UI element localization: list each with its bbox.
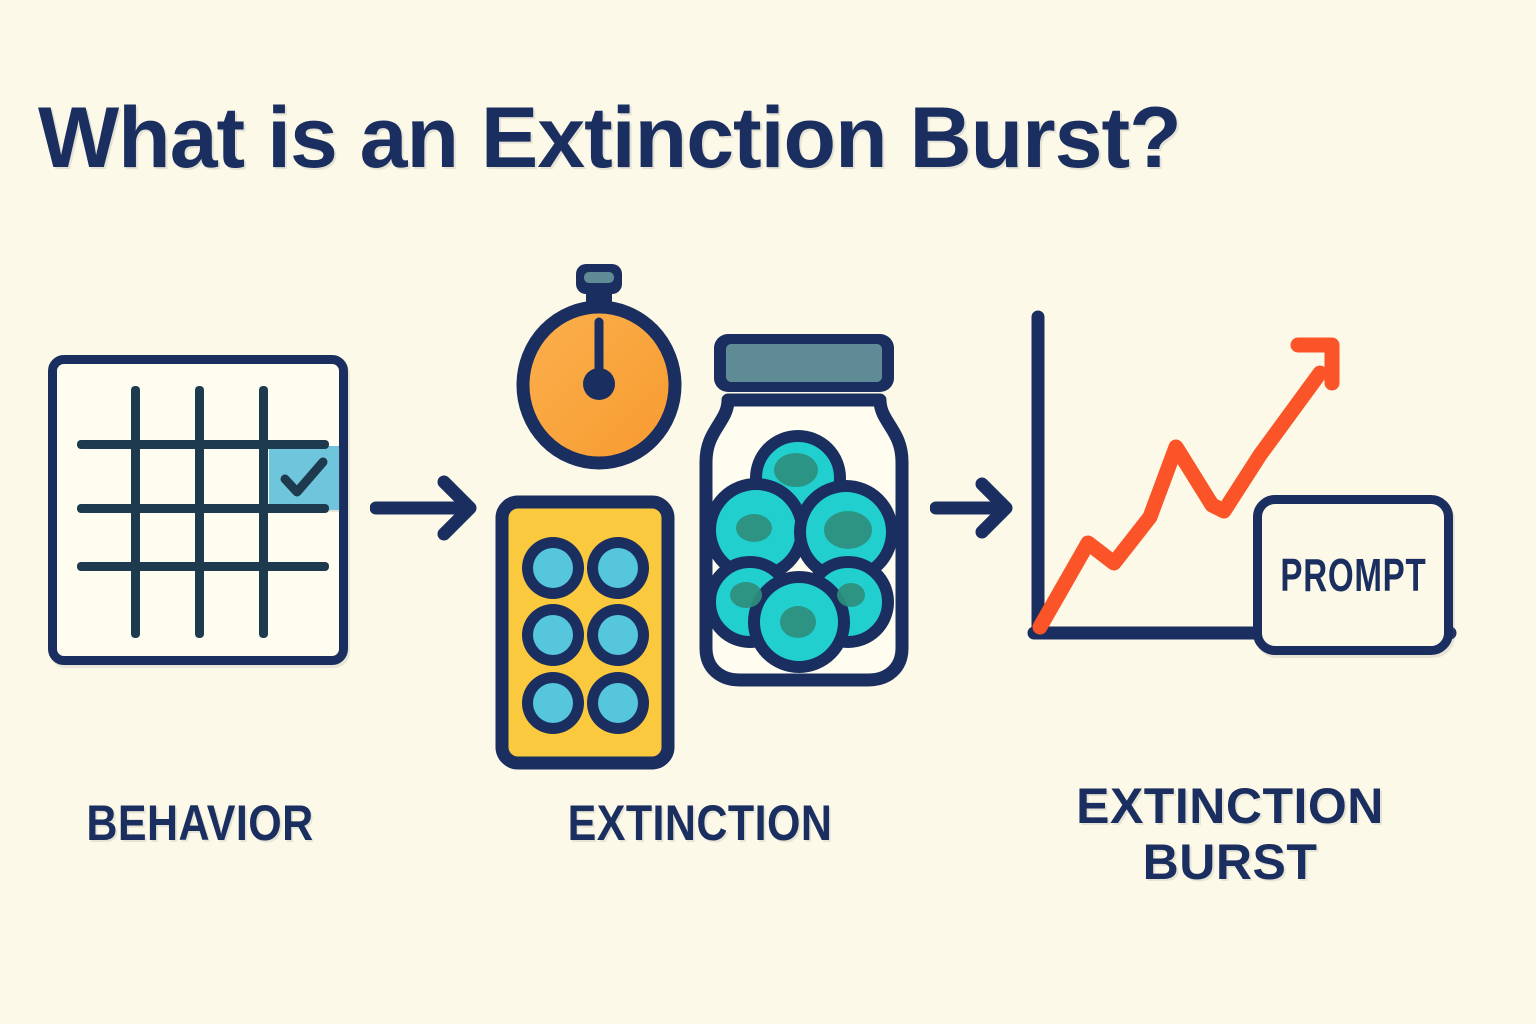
step-label-extinction-burst: EXTINCTION BURST bbox=[1000, 778, 1460, 890]
checked-cell bbox=[269, 446, 339, 510]
page-title: What is an Extinction Burst? bbox=[38, 95, 1438, 181]
right-arrow-icon bbox=[930, 472, 1020, 542]
step-label-extinction: EXTINCTION bbox=[502, 795, 898, 851]
step-extinction bbox=[490, 262, 920, 782]
checkmark-icon bbox=[269, 446, 339, 510]
grid-line-horizontal bbox=[77, 440, 329, 449]
calendar-grid-icon bbox=[48, 355, 348, 665]
step-behavior bbox=[48, 355, 348, 665]
step-label-behavior: BEHAVIOR bbox=[45, 795, 355, 851]
grid-line-horizontal bbox=[77, 562, 329, 571]
grid-line-horizontal bbox=[77, 504, 329, 513]
right-arrow-icon bbox=[370, 470, 485, 542]
prompt-callout-box[interactable]: PROMPT bbox=[1253, 495, 1453, 655]
prompt-callout-label: PROMPT bbox=[1280, 548, 1426, 602]
candy-jar-icon bbox=[688, 330, 920, 692]
infographic-canvas: What is an Extinction Burst? BEHAVIOR bbox=[0, 0, 1536, 1024]
stopwatch-icon bbox=[498, 262, 698, 472]
step-extinction-burst: PROMPT bbox=[1010, 305, 1470, 675]
pill-blister-pack-icon bbox=[495, 495, 675, 770]
